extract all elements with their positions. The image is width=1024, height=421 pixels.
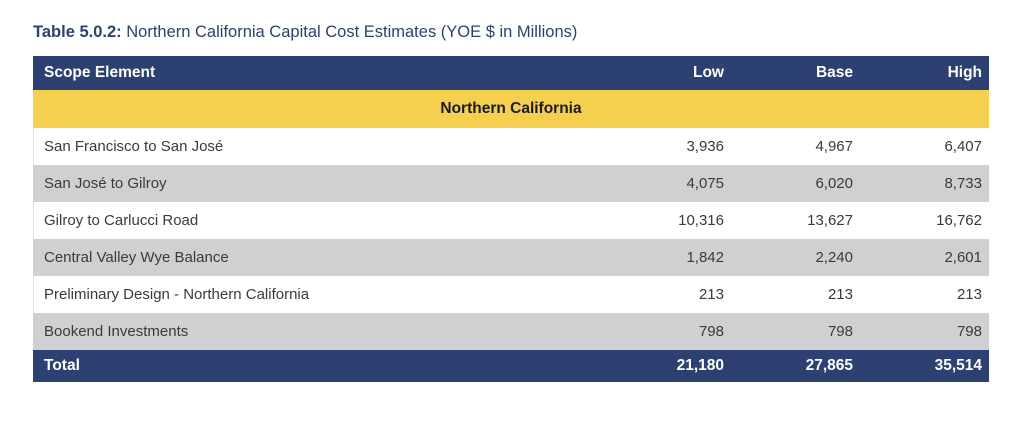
table-row: Gilroy to Carlucci Road 10,316 13,627 16…: [33, 202, 989, 239]
cell-low: 1,842: [597, 239, 731, 276]
section-header-row: Northern California: [33, 90, 989, 128]
cell-scope: San Francisco to San José: [33, 128, 597, 165]
cell-base: 6,020: [731, 165, 860, 202]
table-footer: Total 21,180 27,865 35,514: [33, 350, 989, 382]
cell-low: 213: [597, 276, 731, 313]
total-label: Total: [33, 350, 597, 382]
total-cell-base: 27,865: [731, 350, 860, 382]
cell-high: 2,601: [860, 239, 989, 276]
cell-low: 10,316: [597, 202, 731, 239]
column-header-row: Scope Element Low Base High: [33, 56, 989, 90]
capital-cost-table: Scope Element Low Base High Northern Cal…: [33, 56, 989, 382]
cell-base: 4,967: [731, 128, 860, 165]
column-header-scope: Scope Element: [33, 56, 597, 90]
section-header-label: Northern California: [33, 90, 989, 128]
table-caption-text: Northern California Capital Cost Estimat…: [122, 23, 578, 41]
cell-scope: Gilroy to Carlucci Road: [33, 202, 597, 239]
cell-base: 2,240: [731, 239, 860, 276]
cell-high: 213: [860, 276, 989, 313]
table-row: Preliminary Design - Northern California…: [33, 276, 989, 313]
total-cell-high: 35,514: [860, 350, 989, 382]
cell-low: 4,075: [597, 165, 731, 202]
cell-high: 6,407: [860, 128, 989, 165]
total-row: Total 21,180 27,865 35,514: [33, 350, 989, 382]
table-row: Bookend Investments 798 798 798: [33, 313, 989, 350]
cell-high: 798: [860, 313, 989, 350]
table-row: Central Valley Wye Balance 1,842 2,240 2…: [33, 239, 989, 276]
cell-high: 16,762: [860, 202, 989, 239]
table-caption-label: Table 5.0.2:: [33, 23, 122, 41]
table-header: Scope Element Low Base High: [33, 56, 989, 90]
table-page: Table 5.0.2: Northern California Capital…: [0, 0, 1024, 421]
cell-scope: San José to Gilroy: [33, 165, 597, 202]
cell-high: 8,733: [860, 165, 989, 202]
cell-scope: Preliminary Design - Northern California: [33, 276, 597, 313]
table-caption: Table 5.0.2: Northern California Capital…: [33, 21, 577, 43]
cell-low: 3,936: [597, 128, 731, 165]
cell-base: 13,627: [731, 202, 860, 239]
table-body: Northern California San Francisco to San…: [33, 90, 989, 350]
cell-base: 798: [731, 313, 860, 350]
column-header-low: Low: [597, 56, 731, 90]
cell-base: 213: [731, 276, 860, 313]
column-header-base: Base: [731, 56, 860, 90]
column-header-high: High: [860, 56, 989, 90]
cell-scope: Central Valley Wye Balance: [33, 239, 597, 276]
cell-scope: Bookend Investments: [33, 313, 597, 350]
total-cell-low: 21,180: [597, 350, 731, 382]
table-row: San José to Gilroy 4,075 6,020 8,733: [33, 165, 989, 202]
cell-low: 798: [597, 313, 731, 350]
table-row: San Francisco to San José 3,936 4,967 6,…: [33, 128, 989, 165]
